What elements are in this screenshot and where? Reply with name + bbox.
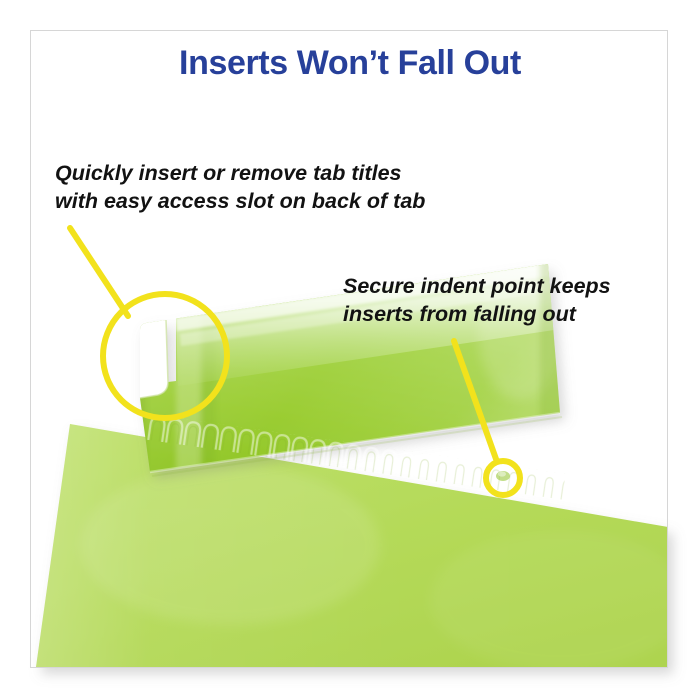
- indent-highlight-circle: [486, 461, 520, 495]
- callout-access-slot: Quickly insert or remove tab titles with…: [55, 159, 425, 215]
- page-title: Inserts Won’t Fall Out: [0, 44, 700, 83]
- slot-leader-line: [70, 228, 128, 316]
- annotation-svg: [0, 0, 700, 700]
- indent-leader-line: [454, 341, 496, 459]
- product-feature-graphic: Inserts Won’t Fall Out Quickly insert or…: [0, 0, 700, 700]
- indent-highlight-annotation: [454, 341, 520, 495]
- callout-indent-point: Secure indent point keeps inserts from f…: [343, 272, 611, 328]
- annotation-overlay: [0, 0, 700, 700]
- slot-highlight-circle: [103, 294, 227, 418]
- slot-highlight-annotation: [70, 228, 227, 418]
